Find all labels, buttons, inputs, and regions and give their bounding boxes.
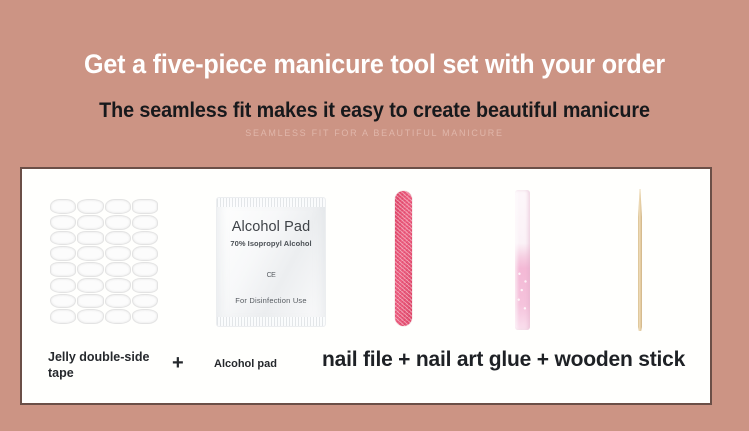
tape-tab bbox=[77, 199, 103, 214]
caption-jelly-tape: Jelly double-side tape bbox=[48, 349, 160, 381]
alcohol-pad-title: Alcohol Pad bbox=[217, 219, 325, 235]
tape-tab bbox=[105, 262, 131, 277]
alcohol-pad-footer: For Disinfection Use bbox=[217, 296, 325, 305]
tape-tab bbox=[132, 246, 158, 261]
tape-tab bbox=[105, 215, 131, 230]
product-panel: Alcohol Pad 70% Isopropyl Alcohol CE For… bbox=[20, 167, 712, 405]
tape-tab bbox=[105, 231, 131, 246]
headline-tertiary: SEAMLESS FIT FOR A BEAUTIFUL MANICURE bbox=[0, 123, 749, 139]
caption-row: Jelly double-side tape + Alcohol pad nai… bbox=[22, 341, 710, 403]
tape-tab bbox=[105, 246, 131, 261]
tape-tab bbox=[77, 246, 103, 261]
tape-tab bbox=[105, 309, 131, 324]
headline-block: Get a five-piece manicure tool set with … bbox=[0, 0, 749, 139]
tape-tab bbox=[77, 309, 103, 324]
tape-tab bbox=[77, 231, 103, 246]
glue-texture bbox=[515, 268, 530, 316]
tape-tab bbox=[50, 199, 76, 214]
sachet-crimp-top bbox=[217, 198, 325, 207]
headline-secondary: The seamless fit makes it easy to create… bbox=[22, 80, 726, 123]
tape-tab bbox=[50, 294, 76, 309]
jelly-tape-image bbox=[50, 199, 158, 324]
tape-tab bbox=[50, 278, 76, 293]
tape-tab bbox=[50, 262, 76, 277]
tape-tab bbox=[132, 199, 158, 214]
caption-alcohol-pad: Alcohol pad bbox=[214, 357, 277, 371]
wooden-stick-image bbox=[637, 189, 643, 331]
caption-plus-separator: + bbox=[172, 353, 184, 373]
tape-tab bbox=[50, 231, 76, 246]
tape-tab bbox=[105, 278, 131, 293]
tape-tab bbox=[132, 262, 158, 277]
ce-mark-icon: CE bbox=[217, 272, 325, 279]
promo-banner: Get a five-piece manicure tool set with … bbox=[0, 0, 749, 431]
tape-tab bbox=[105, 199, 131, 214]
tape-tab bbox=[77, 215, 103, 230]
tape-tab bbox=[132, 278, 158, 293]
tape-tab bbox=[132, 309, 158, 324]
product-image-row: Alcohol Pad 70% Isopropyl Alcohol CE For… bbox=[22, 169, 710, 344]
tape-tab bbox=[50, 246, 76, 261]
tape-tab-grid bbox=[50, 199, 158, 324]
tape-tab bbox=[50, 309, 76, 324]
nail-file-image bbox=[395, 191, 412, 326]
caption-remaining-tools: nail file + nail art glue + wooden stick bbox=[322, 347, 685, 373]
alcohol-pad-image: Alcohol Pad 70% Isopropyl Alcohol CE For… bbox=[216, 197, 326, 327]
tape-tab bbox=[132, 294, 158, 309]
tape-tab bbox=[132, 231, 158, 246]
tape-tab bbox=[77, 262, 103, 277]
tape-tab bbox=[132, 215, 158, 230]
tape-tab bbox=[50, 215, 76, 230]
alcohol-pad-subtitle: 70% Isopropyl Alcohol bbox=[217, 239, 325, 248]
sachet-crimp-bottom bbox=[217, 317, 325, 326]
page-title: Get a five-piece manicure tool set with … bbox=[26, 0, 723, 80]
tape-tab bbox=[105, 294, 131, 309]
tape-tab bbox=[77, 278, 103, 293]
nail-art-glue-image bbox=[515, 190, 530, 330]
tape-tab bbox=[77, 294, 103, 309]
